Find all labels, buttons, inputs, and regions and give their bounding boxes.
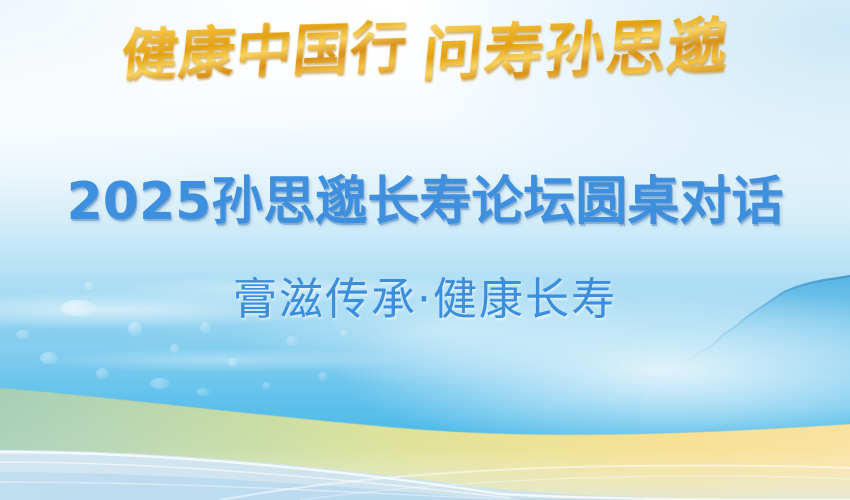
poster-content: 健康中国行问寿孙思邈 2025孙思邈长寿论坛圆桌对话 膏滋传承·健康长寿	[0, 0, 850, 500]
event-slogan: 膏滋传承·健康长寿	[0, 278, 850, 322]
event-title: 2025孙思邈长寿论坛圆桌对话	[0, 176, 850, 228]
calligraphy-line-a: 健康中国行	[119, 17, 427, 88]
gold-brush-calligraphy: 健康中国行问寿孙思邈	[0, 18, 850, 85]
poster-canvas: 健康中国行问寿孙思邈 2025孙思邈长寿论坛圆桌对话 膏滋传承·健康长寿	[0, 0, 850, 500]
calligraphy-line-b: 问寿孙思邈	[419, 14, 731, 90]
